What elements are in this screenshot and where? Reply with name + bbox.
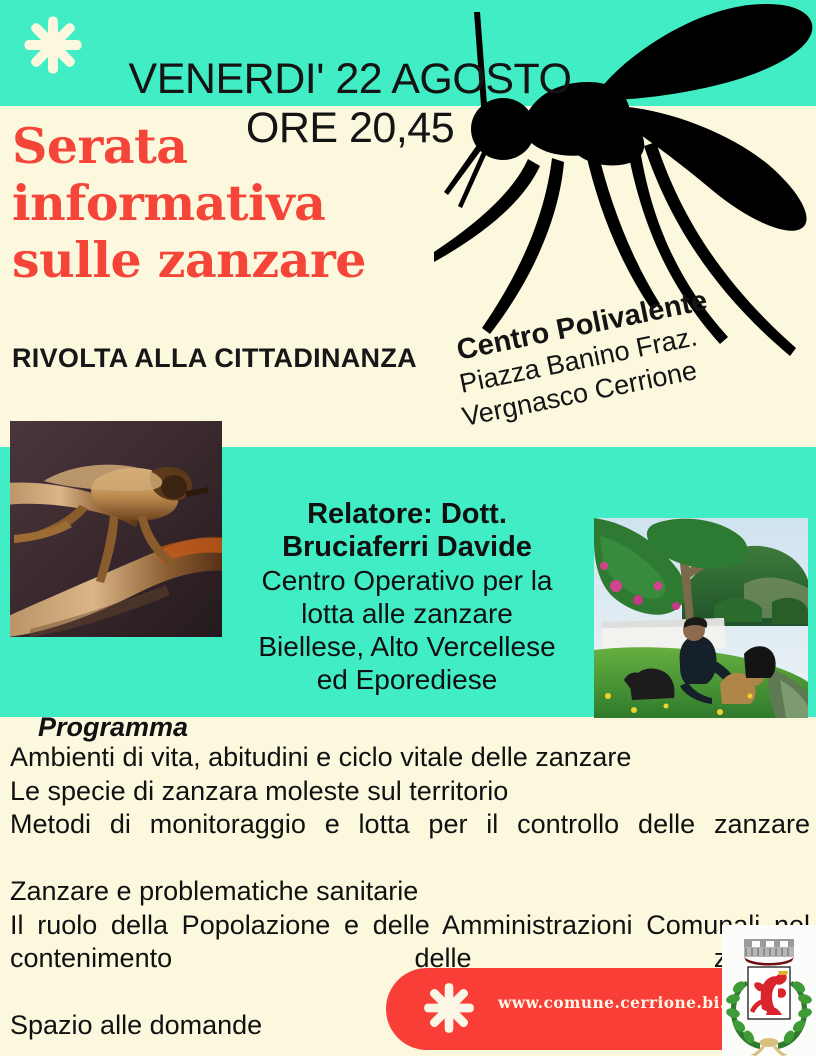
programme-item: Zanzare e problematiche sanitarie (10, 875, 810, 909)
programme-item: Ambienti di vita, abitudini e ciclo vita… (10, 741, 810, 775)
website-url[interactable]: www.comune.cerrione.bi.it (498, 993, 739, 1012)
speaker-block: Relatore: Dott. Bruciaferri Davide Centr… (214, 498, 600, 696)
speaker-name-line-1: Relatore: Dott. (214, 498, 600, 531)
poster-root: VENERDI' 22 AGOSTO ORE 20,45 (0, 0, 816, 1056)
subtitle: RIVOLTA ALLA CITTADINANZA (12, 343, 417, 374)
programme-item: Spazio alle domande (10, 1009, 810, 1043)
title-line-3: sulle zanzare (12, 232, 442, 289)
speaker-org-line-4: ed Eporediese (214, 663, 600, 696)
speaker-org-line-3: Biellese, Alto Vercellese (214, 630, 600, 663)
robber-fly-photo (10, 421, 222, 637)
event-date: VENERDI' 22 AGOSTO (129, 55, 572, 103)
asterisk-icon (422, 981, 476, 1035)
programme-heading: Programma (38, 712, 188, 743)
event-date-time: VENERDI' 22 AGOSTO ORE 20,45 (100, 6, 600, 202)
asterisk-icon (22, 14, 84, 76)
programme-item: Le specie di zanzara moleste sul territo… (10, 775, 810, 809)
speaker-org-line-2: lotta alle zanzare (214, 597, 600, 630)
comune-di-cerrione-coat-of-arms (722, 925, 816, 1056)
man-with-dogs-field-photo (594, 518, 808, 718)
event-time: ORE 20,45 (100, 104, 600, 153)
programme-item: Metodi di monitoraggio e lotta per il co… (10, 808, 810, 875)
speaker-org-line-1: Centro Operativo per la (214, 564, 600, 597)
speaker-name-line-2: Bruciaferri Davide (214, 531, 600, 564)
